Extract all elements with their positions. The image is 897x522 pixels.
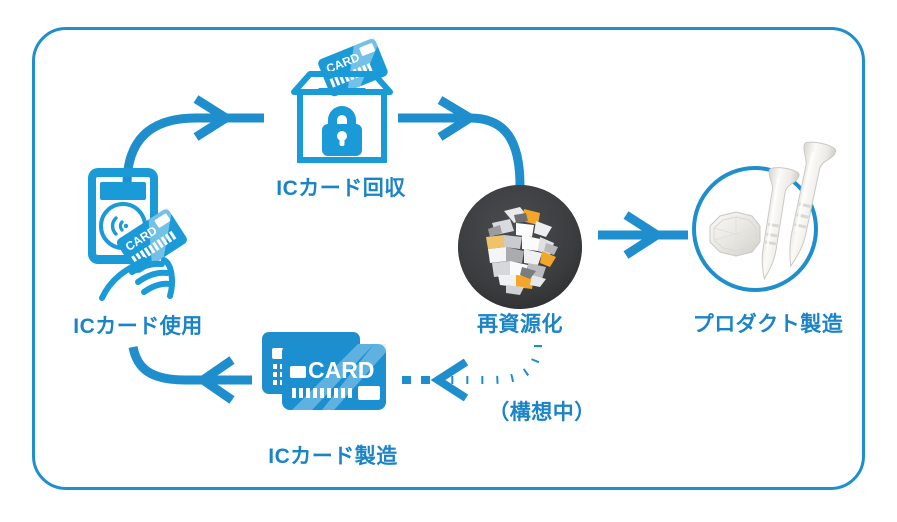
shredded-card-material-photo xyxy=(458,185,582,309)
node-recycling xyxy=(458,185,582,309)
label-ic-card-use: ICカード使用 xyxy=(48,310,228,340)
golf-tee-product-photo xyxy=(688,138,838,290)
arrow-manufacture-to-use xyxy=(133,347,252,400)
arrow-product-to-manufacture xyxy=(396,345,538,398)
label-planning-note: （構想中） xyxy=(472,396,612,426)
label-ic-card-manufacture: ICカード製造 xyxy=(240,440,426,470)
node-product-manufacture xyxy=(692,166,832,306)
collection-box-with-lock-icon: CARD xyxy=(282,28,402,168)
label-ic-card-collection: ICカード回収 xyxy=(248,172,434,202)
svg-text:CARD: CARD xyxy=(308,357,374,383)
node-ic-card-collection: CARD xyxy=(282,28,402,168)
ic-card-stack-icon: CARD CARD xyxy=(262,330,402,426)
label-product-manufacture: プロダクト製造 xyxy=(668,308,868,338)
hand-holding-card-reader-icon: CARD xyxy=(78,160,198,300)
node-ic-card-use: CARD xyxy=(78,160,198,300)
arrow-recycle-to-product xyxy=(598,215,688,255)
node-ic-card-manufacture: CARD CARD xyxy=(262,330,402,426)
diagram-canvas: CARD ICカード使用 xyxy=(0,0,897,522)
label-recycling: 再資源化 xyxy=(460,308,580,338)
